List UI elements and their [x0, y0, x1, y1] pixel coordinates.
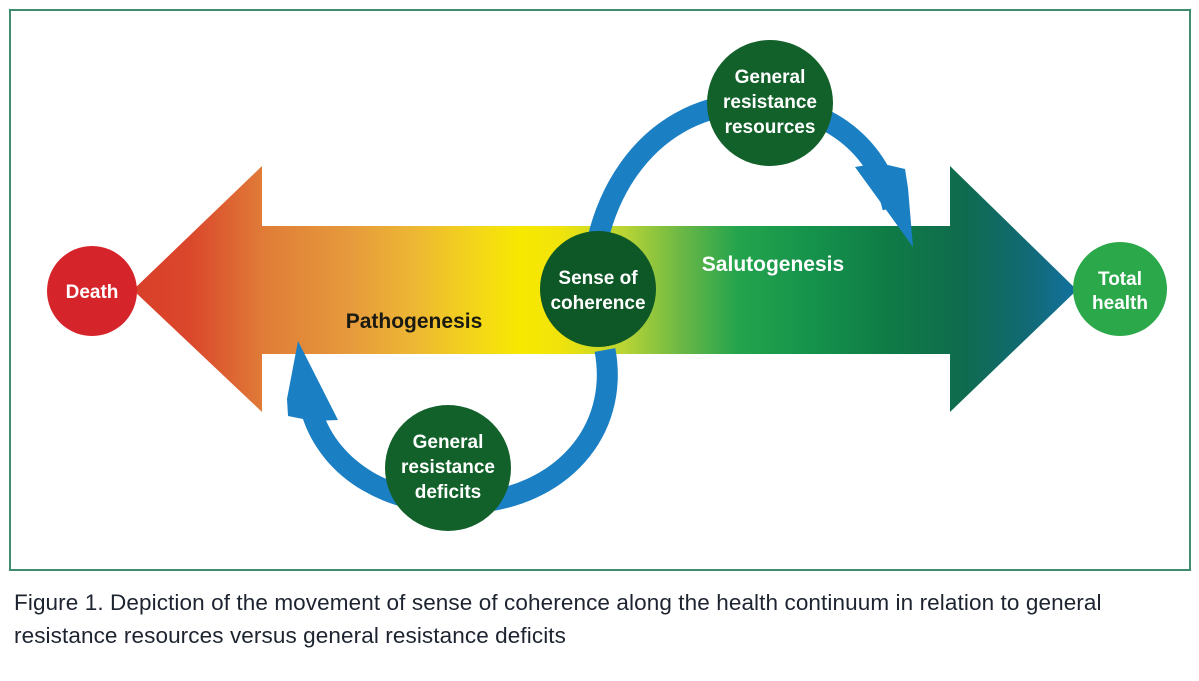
total-health-label-line-1: Total	[1098, 269, 1142, 290]
figure-caption: Figure 1. Depiction of the movement of s…	[14, 586, 1174, 652]
total-health-label-line-2: health	[1092, 293, 1148, 314]
general-resistance-resources-label-line-1: General	[735, 67, 806, 88]
sense-of-coherence-label-line-1: Sense of	[558, 268, 638, 289]
general-resistance-resources-label-line-2: resistance	[723, 92, 817, 113]
node-general-resistance-deficits[interactable]: General resistance deficits	[385, 405, 511, 531]
general-resistance-deficits-label-line-1: General	[413, 432, 484, 453]
general-resistance-deficits-label-line-3: deficits	[415, 482, 482, 503]
pathogenesis-label: Pathogenesis	[346, 310, 483, 333]
node-death[interactable]: Death	[47, 246, 137, 336]
figure-page: Pathogenesis Salutogenesis Death Sense o…	[0, 0, 1199, 681]
death-label: Death	[66, 282, 119, 303]
node-sense-of-coherence[interactable]: Sense of coherence	[540, 231, 656, 347]
general-resistance-resources-label-line-3: resources	[725, 117, 816, 138]
node-total-health[interactable]: Total health	[1073, 242, 1167, 336]
sense-of-coherence-label-line-2: coherence	[550, 293, 645, 314]
general-resistance-deficits-label-line-2: resistance	[401, 457, 495, 478]
node-general-resistance-resources[interactable]: General resistance resources	[707, 40, 833, 166]
sense-of-coherence-circle[interactable]	[540, 231, 656, 347]
health-continuum-diagram: Pathogenesis Salutogenesis Death Sense o…	[0, 0, 1199, 572]
salutogenesis-label: Salutogenesis	[702, 253, 844, 276]
